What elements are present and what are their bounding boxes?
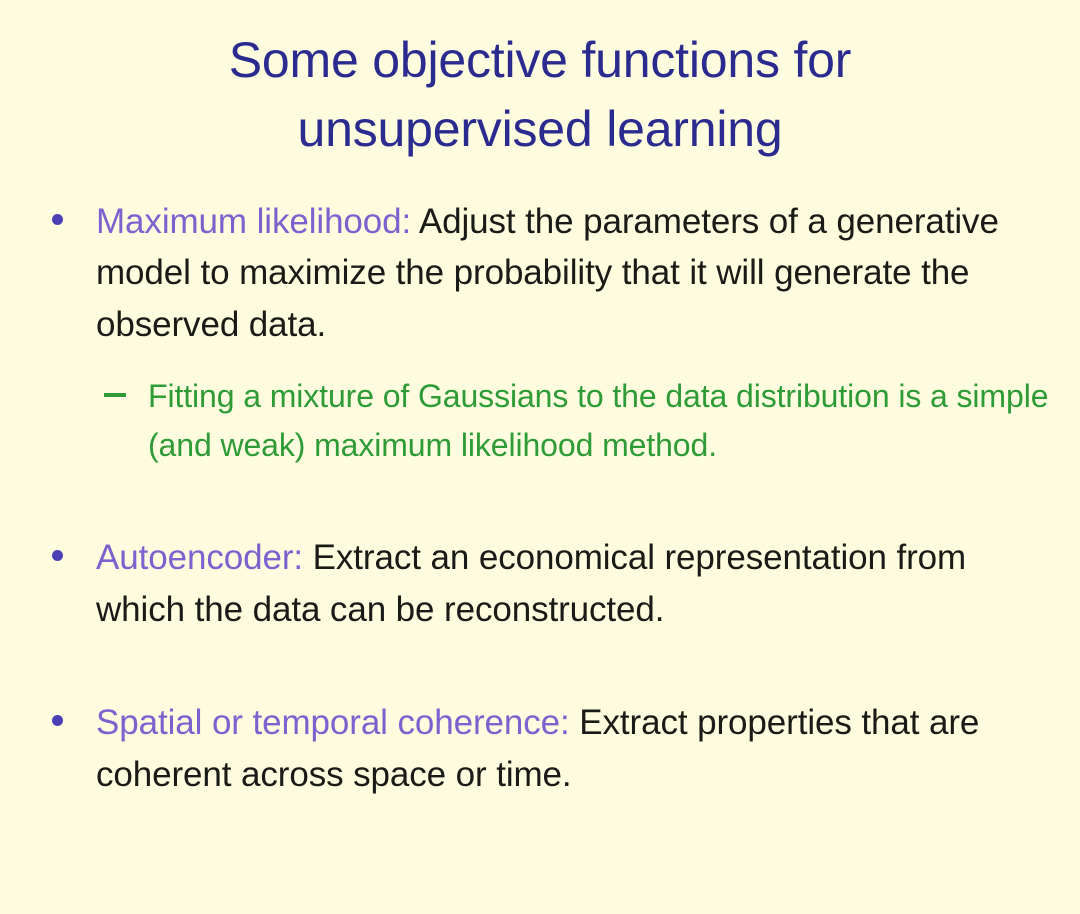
slide-title-line-1: Some objective functions for bbox=[64, 26, 1016, 95]
bullet-item-autoencoder: Autoencoder: Extract an economical repre… bbox=[44, 532, 1056, 635]
spacer bbox=[44, 350, 1056, 372]
en-dash-icon bbox=[104, 393, 126, 397]
bullet-item-maximum-likelihood: Maximum likelihood: Adjust the parameter… bbox=[44, 196, 1056, 350]
spacer bbox=[44, 470, 1056, 532]
sub-bullet-item-gaussian-mixture: Fitting a mixture of Gaussians to the da… bbox=[44, 372, 1056, 470]
bullet-dot-icon bbox=[52, 715, 63, 726]
bullet-label-maximum-likelihood: Maximum likelihood: bbox=[96, 202, 411, 241]
bullet-label-spatial-temporal-coherence: Spatial or temporal coherence: bbox=[96, 703, 570, 742]
bullet-item-spatial-temporal-coherence: Spatial or temporal coherence: Extract p… bbox=[44, 697, 1056, 800]
bullet-label-autoencoder: Autoencoder: bbox=[96, 538, 303, 577]
slide-title: Some objective functions for unsupervise… bbox=[64, 26, 1016, 164]
slide-body: Maximum likelihood: Adjust the parameter… bbox=[44, 196, 1056, 800]
bullet-dot-icon bbox=[52, 550, 63, 561]
sub-bullet-text-gaussian-mixture: Fitting a mixture of Gaussians to the da… bbox=[148, 378, 1048, 463]
slide-title-line-2: unsupervised learning bbox=[64, 95, 1016, 164]
spacer bbox=[44, 635, 1056, 697]
presentation-slide: Some objective functions for unsupervise… bbox=[0, 0, 1080, 914]
bullet-dot-icon bbox=[52, 214, 63, 225]
